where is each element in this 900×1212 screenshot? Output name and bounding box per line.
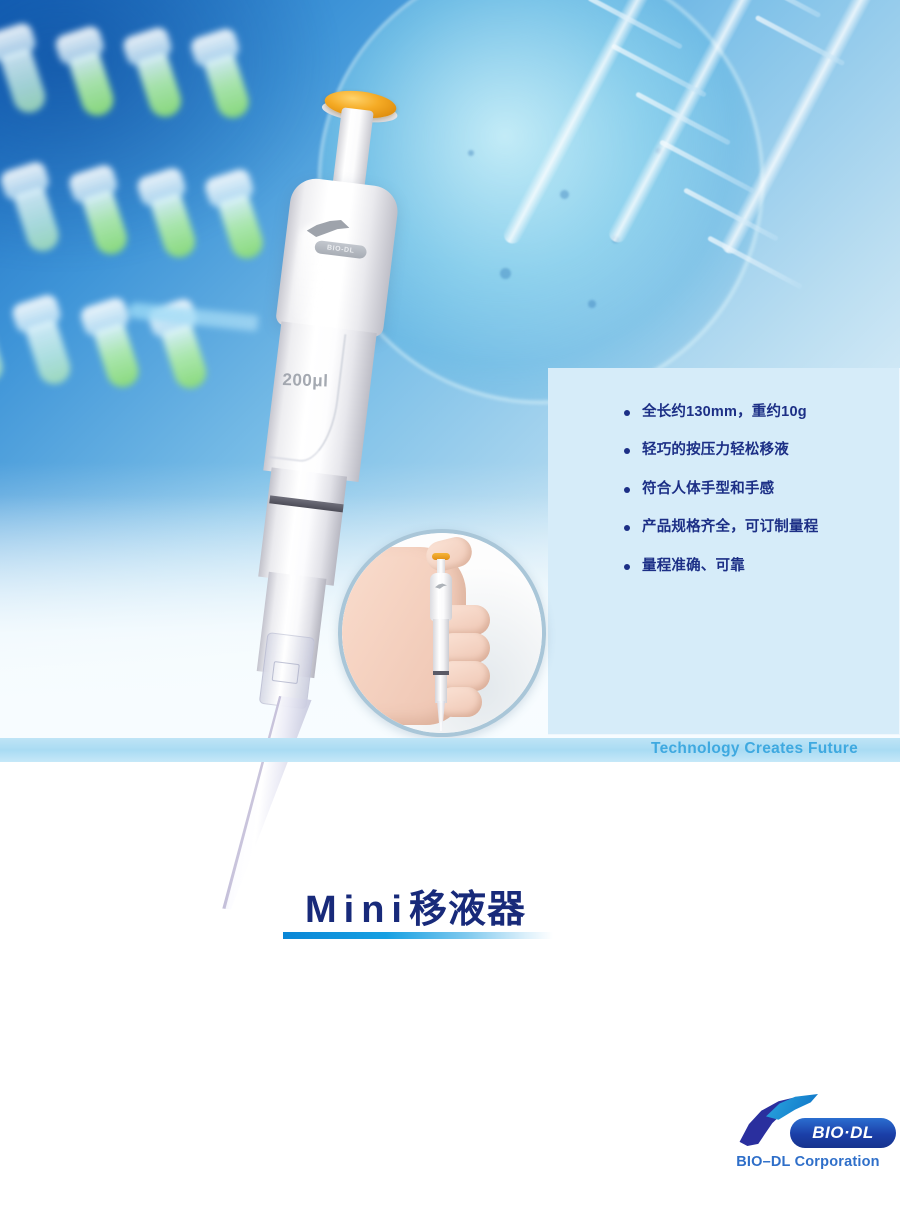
brochure-page: BIO-DL 200μl 全长约130mm，重约10g 轻巧的按压力轻松移液 符… bbox=[0, 0, 900, 1212]
list-item: 产品规格齐全，可订制量程 bbox=[624, 519, 894, 536]
bullet-dot-icon bbox=[624, 525, 630, 531]
tagline-text: Technology Creates Future bbox=[651, 740, 858, 758]
feature-text: 符合人体手型和手感 bbox=[642, 481, 774, 497]
pipette-volume-label: 200μl bbox=[282, 370, 329, 392]
brand-logo-mark: BIO·DL bbox=[732, 1092, 892, 1150]
feature-text: 全长约130mm，重约10g bbox=[642, 404, 807, 420]
dna-helix-image bbox=[530, 0, 900, 350]
inset-photo-content bbox=[342, 533, 542, 733]
list-item: 全长约130mm，重约10g bbox=[624, 404, 894, 421]
bullet-dot-icon bbox=[624, 410, 630, 416]
list-item: 量程准确、可靠 bbox=[624, 558, 894, 575]
title-latin: Mini bbox=[305, 889, 409, 931]
inset-pipette-tip bbox=[437, 701, 445, 731]
bullet-dot-icon bbox=[624, 448, 630, 454]
inset-pipette-shaft bbox=[435, 675, 447, 703]
hand-grip-inset-photo bbox=[338, 529, 546, 737]
feature-list: 全长约130mm，重约10g 轻巧的按压力轻松移液 符合人体手型和手感 产品规格… bbox=[624, 404, 894, 596]
footer-logo-block: BIO·DL BIO–DL Corporation bbox=[724, 1092, 892, 1184]
title-cjk: 移液器 bbox=[409, 889, 526, 931]
inset-pipette-image bbox=[430, 553, 452, 729]
page-title: Mini移液器 bbox=[305, 878, 526, 933]
inset-pipette-head bbox=[430, 573, 452, 621]
disposable-pipette-tip bbox=[208, 690, 312, 916]
feature-text: 轻巧的按压力轻松移液 bbox=[642, 442, 789, 458]
company-name: BIO–DL Corporation bbox=[724, 1154, 892, 1170]
title-underline-rule bbox=[283, 932, 553, 939]
bullet-dot-icon bbox=[624, 487, 630, 493]
pipette-lower-body bbox=[258, 467, 347, 585]
feature-text: 量程准确、可靠 bbox=[642, 558, 745, 574]
logo-wordmark: BIO·DL bbox=[790, 1118, 896, 1148]
list-item: 轻巧的按压力轻松移液 bbox=[624, 442, 894, 459]
feature-panel: 全长约130mm，重约10g 轻巧的按压力轻松移液 符合人体手型和手感 产品规格… bbox=[548, 368, 900, 735]
tip-ejector-slot bbox=[272, 661, 300, 684]
inset-pipette-body bbox=[433, 619, 449, 673]
feature-text: 产品规格齐全，可订制量程 bbox=[642, 519, 818, 535]
bullet-dot-icon bbox=[624, 564, 630, 570]
list-item: 符合人体手型和手感 bbox=[624, 481, 894, 498]
